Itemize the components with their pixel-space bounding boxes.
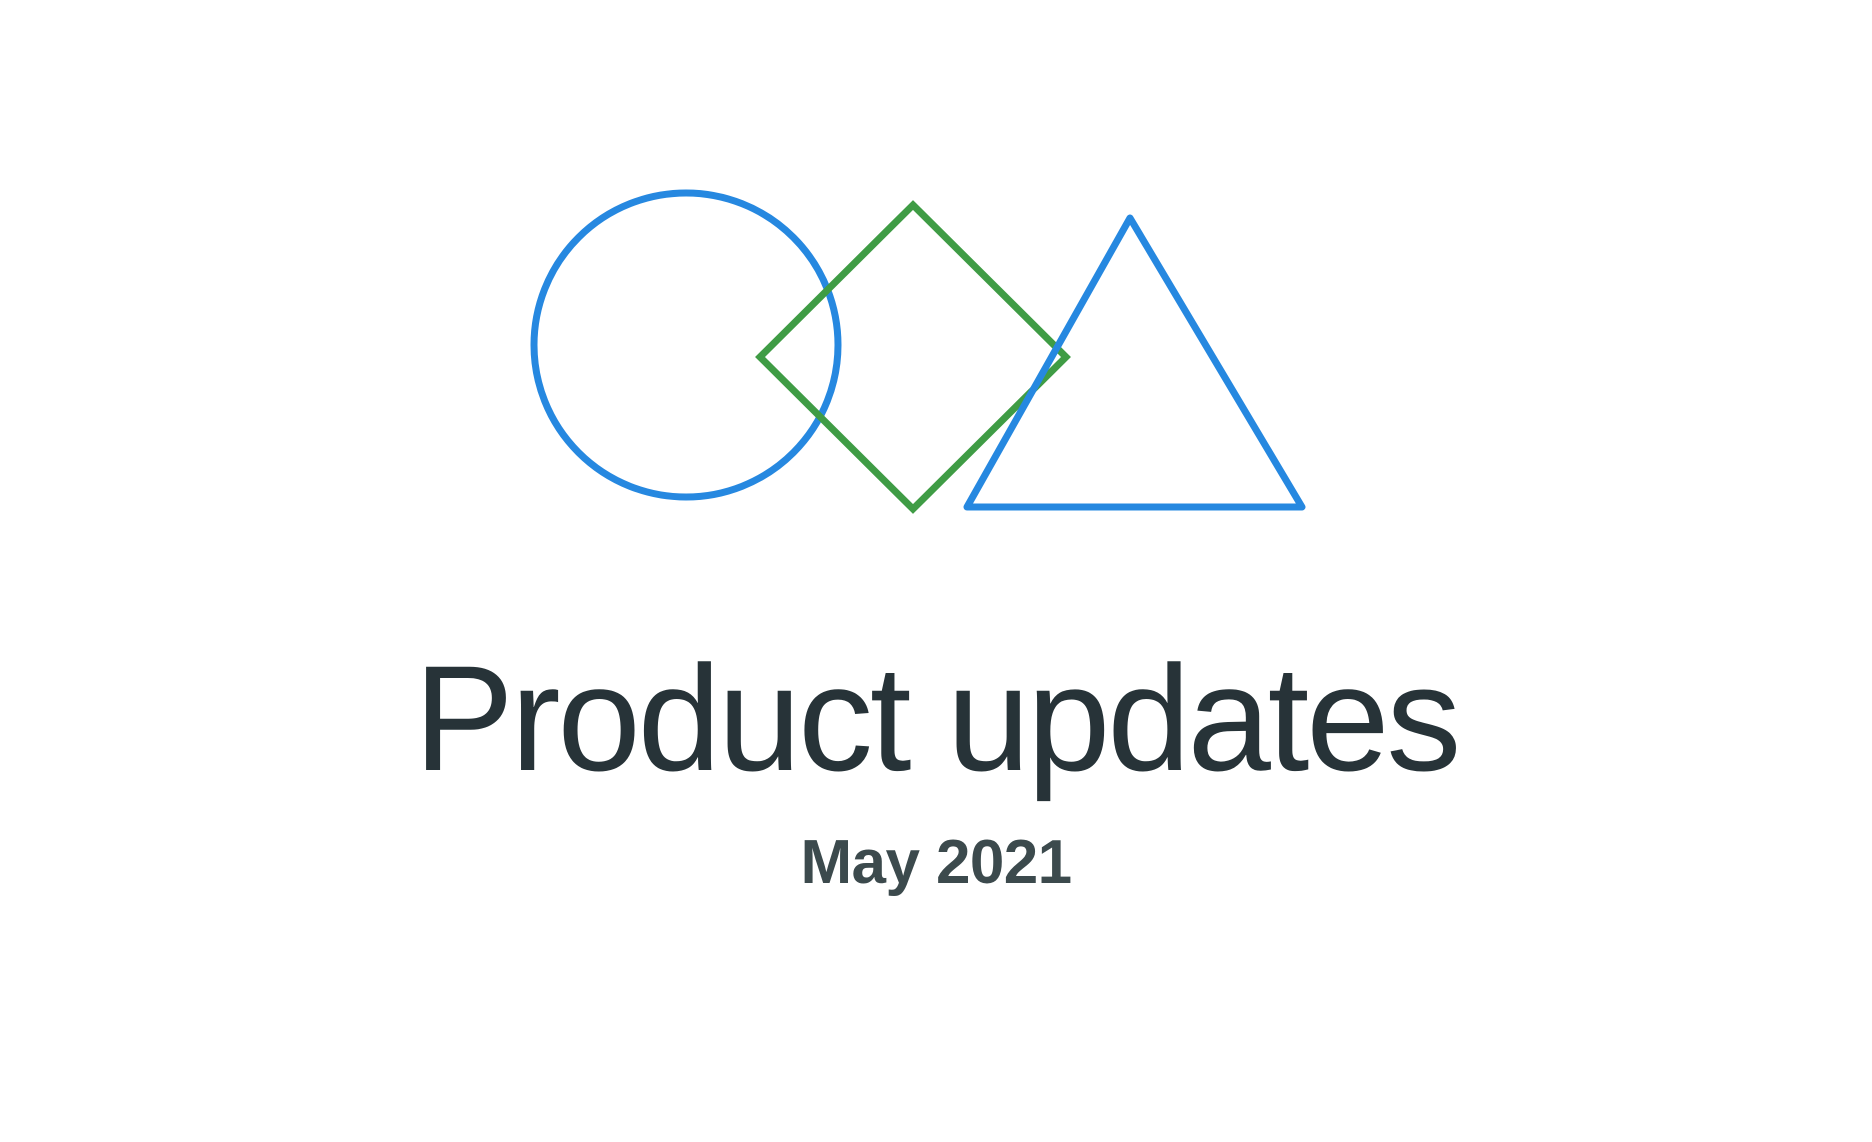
headline-block: Product updates May 2021 [0, 640, 1872, 895]
page-subtitle-date: May 2021 [0, 796, 1872, 895]
page-title: Product updates [0, 640, 1872, 796]
three-shapes-logo [0, 0, 1872, 560]
diamond-outline-icon [760, 205, 1066, 509]
triangle-outline-icon [967, 218, 1302, 507]
slide-canvas: Product updates May 2021 [0, 0, 1872, 1142]
circle-outline-icon [534, 193, 838, 497]
